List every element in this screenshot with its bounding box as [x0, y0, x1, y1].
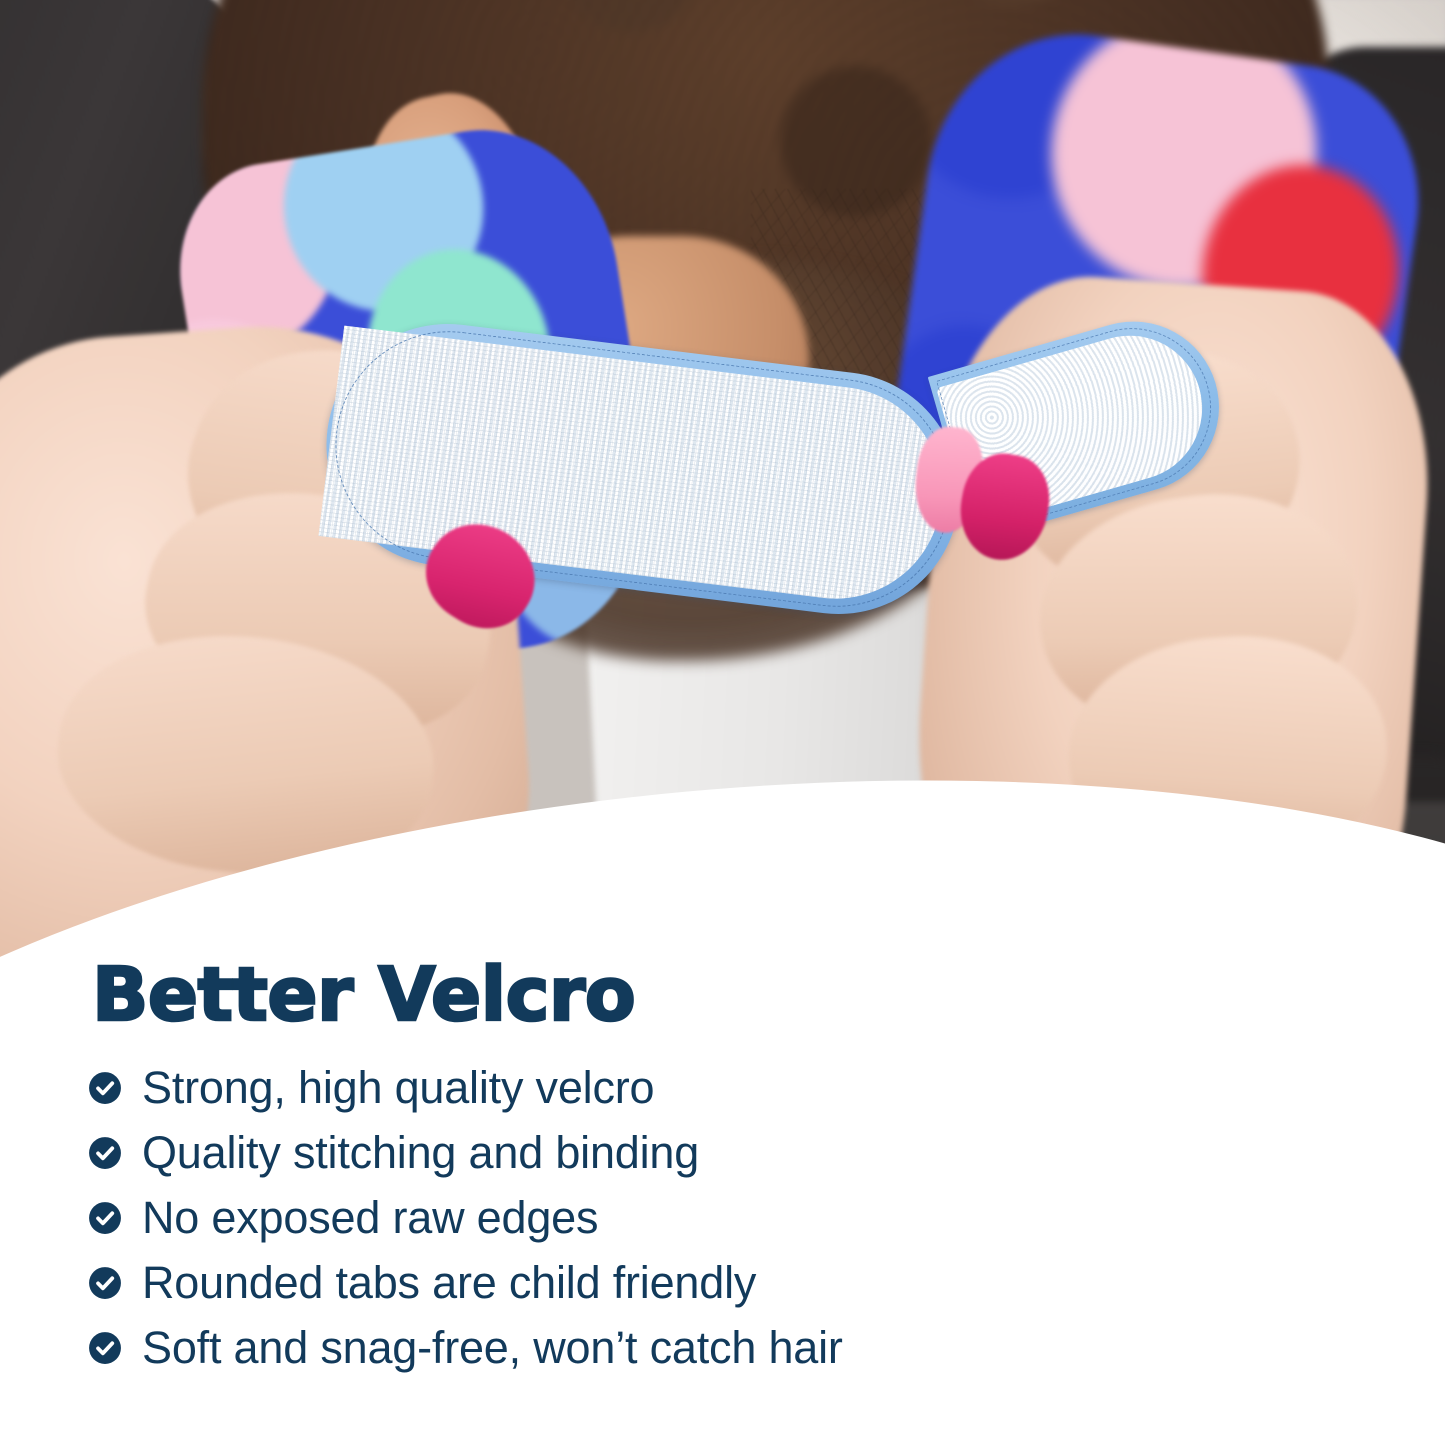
feature-list: Strong, high quality velcro Quality stit…	[88, 1055, 1288, 1380]
feature-item-label: Strong, high quality velcro	[142, 1065, 654, 1110]
feature-item-label: Soft and snag-free, won’t catch hair	[142, 1325, 843, 1370]
feature-item: Quality stitching and binding	[88, 1120, 1288, 1185]
feature-item: Rounded tabs are child friendly	[88, 1250, 1288, 1315]
page-title: Better Velcro	[92, 958, 635, 1032]
product-feature-infographic: Better Velcro Strong, high quality velcr…	[0, 0, 1445, 1445]
feature-item: No exposed raw edges	[88, 1185, 1288, 1250]
check-circle-icon	[88, 1071, 122, 1105]
check-circle-icon	[88, 1201, 122, 1235]
check-circle-icon	[88, 1331, 122, 1365]
feature-item: Soft and snag-free, won’t catch hair	[88, 1315, 1288, 1380]
check-circle-icon	[88, 1136, 122, 1170]
text-content: Better Velcro Strong, high quality velcr…	[0, 0, 1445, 1445]
feature-item-label: Quality stitching and binding	[142, 1130, 699, 1175]
check-circle-icon	[88, 1266, 122, 1300]
feature-item: Strong, high quality velcro	[88, 1055, 1288, 1120]
feature-item-label: Rounded tabs are child friendly	[142, 1260, 756, 1305]
feature-item-label: No exposed raw edges	[142, 1195, 598, 1240]
